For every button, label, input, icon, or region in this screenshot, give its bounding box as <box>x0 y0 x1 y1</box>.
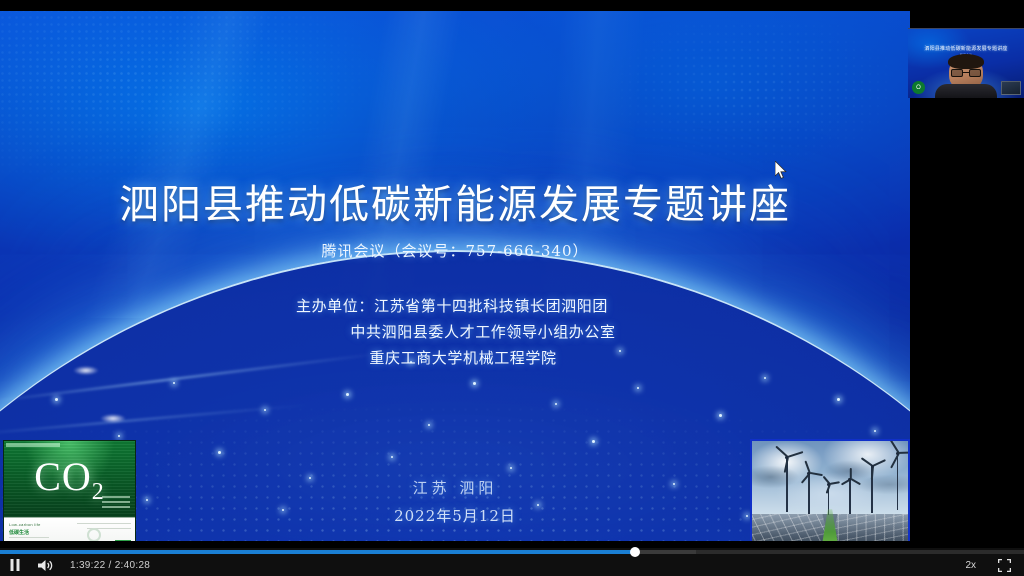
wind-turbine <box>841 478 859 514</box>
light-beam <box>0 404 309 436</box>
volume-icon <box>38 559 53 572</box>
volume-button[interactable] <box>30 554 60 576</box>
co2-cover: CO2 <box>4 441 135 517</box>
co2-book-image: CO2 Low-carbon life 低碳生活 <box>3 440 136 541</box>
letterbox-bottom <box>0 541 1024 548</box>
wind-turbine <box>774 456 800 512</box>
co2-open-page: Low-carbon life 低碳生活 <box>4 517 135 541</box>
time-display: 1:39:22 / 2:40:28 <box>70 560 150 571</box>
co2-label: CO <box>34 454 92 499</box>
glow-dot <box>100 414 126 423</box>
wind-turbine <box>799 472 819 514</box>
co2-cover-bar <box>6 443 60 447</box>
speaker-video <box>935 56 997 98</box>
controls-row: 1:39:22 / 2:40:28 2x <box>0 554 1024 576</box>
fullscreen-icon <box>998 559 1011 572</box>
wind-turbine <box>861 465 883 513</box>
fullscreen-button[interactable] <box>990 554 1018 576</box>
co2-cover-lines <box>102 496 130 511</box>
pip-badge-label: O <box>916 85 921 91</box>
organizer-line-1: 主办单位：江苏省第十四批科技镇长团泗阳团 <box>0 293 910 319</box>
playback-speed-button[interactable]: 2x <box>965 560 976 571</box>
speaker-torso <box>935 84 997 98</box>
solar-panel-array-left <box>750 514 832 541</box>
wind-turbine <box>885 452 910 510</box>
solar-panel-array-right <box>828 514 910 541</box>
organizer-line-2: 中共泗阳县委人才工作领导小组办公室 <box>0 319 910 345</box>
light-streaks <box>0 11 910 318</box>
co2-page-subheading: 低碳生活 <box>9 529 29 536</box>
glasses-icon <box>951 69 981 77</box>
player-controls: 1:39:22 / 2:40:28 2x <box>0 548 1024 576</box>
pip-secondary-thumbnail <box>1001 81 1021 95</box>
pause-icon <box>10 559 20 571</box>
video-stage[interactable]: 泗阳县推动低碳新能源发展专题讲座 腾讯会议（会议号：757-666-340） 主… <box>0 0 1024 548</box>
speaker-hair <box>948 54 984 69</box>
presentation-slide: 泗阳县推动低碳新能源发展专题讲座 腾讯会议（会议号：757-666-340） 主… <box>0 11 910 541</box>
slide-organizers: 主办单位：江苏省第十四批科技镇长团泗阳团 中共泗阳县委人才工作领导小组办公室 重… <box>0 293 910 371</box>
letterbox-top <box>0 0 1024 11</box>
wind-solar-image <box>750 439 910 541</box>
pip-status-badge: O <box>912 81 925 94</box>
co2-page-chart <box>87 528 101 541</box>
pip-slide-title: 泗阳县推动低碳新能源发展专题讲座 <box>908 45 1024 52</box>
slide-meeting-number: 腾讯会议（会议号：757-666-340） <box>0 240 910 261</box>
co2-page-heading: Low-carbon life <box>9 522 41 527</box>
pause-button[interactable] <box>0 554 30 576</box>
webcam-pip[interactable]: 泗阳县推动低碳新能源发展专题讲座 腾讯会议 O <box>908 28 1024 98</box>
slide-title: 泗阳县推动低碳新能源发展专题讲座 <box>0 172 910 230</box>
organizer-line-3: 重庆工商大学机械工程学院 <box>0 345 910 371</box>
video-player: 泗阳县推动低碳新能源发展专题讲座 腾讯会议（会议号：757-666-340） 主… <box>0 0 1024 576</box>
